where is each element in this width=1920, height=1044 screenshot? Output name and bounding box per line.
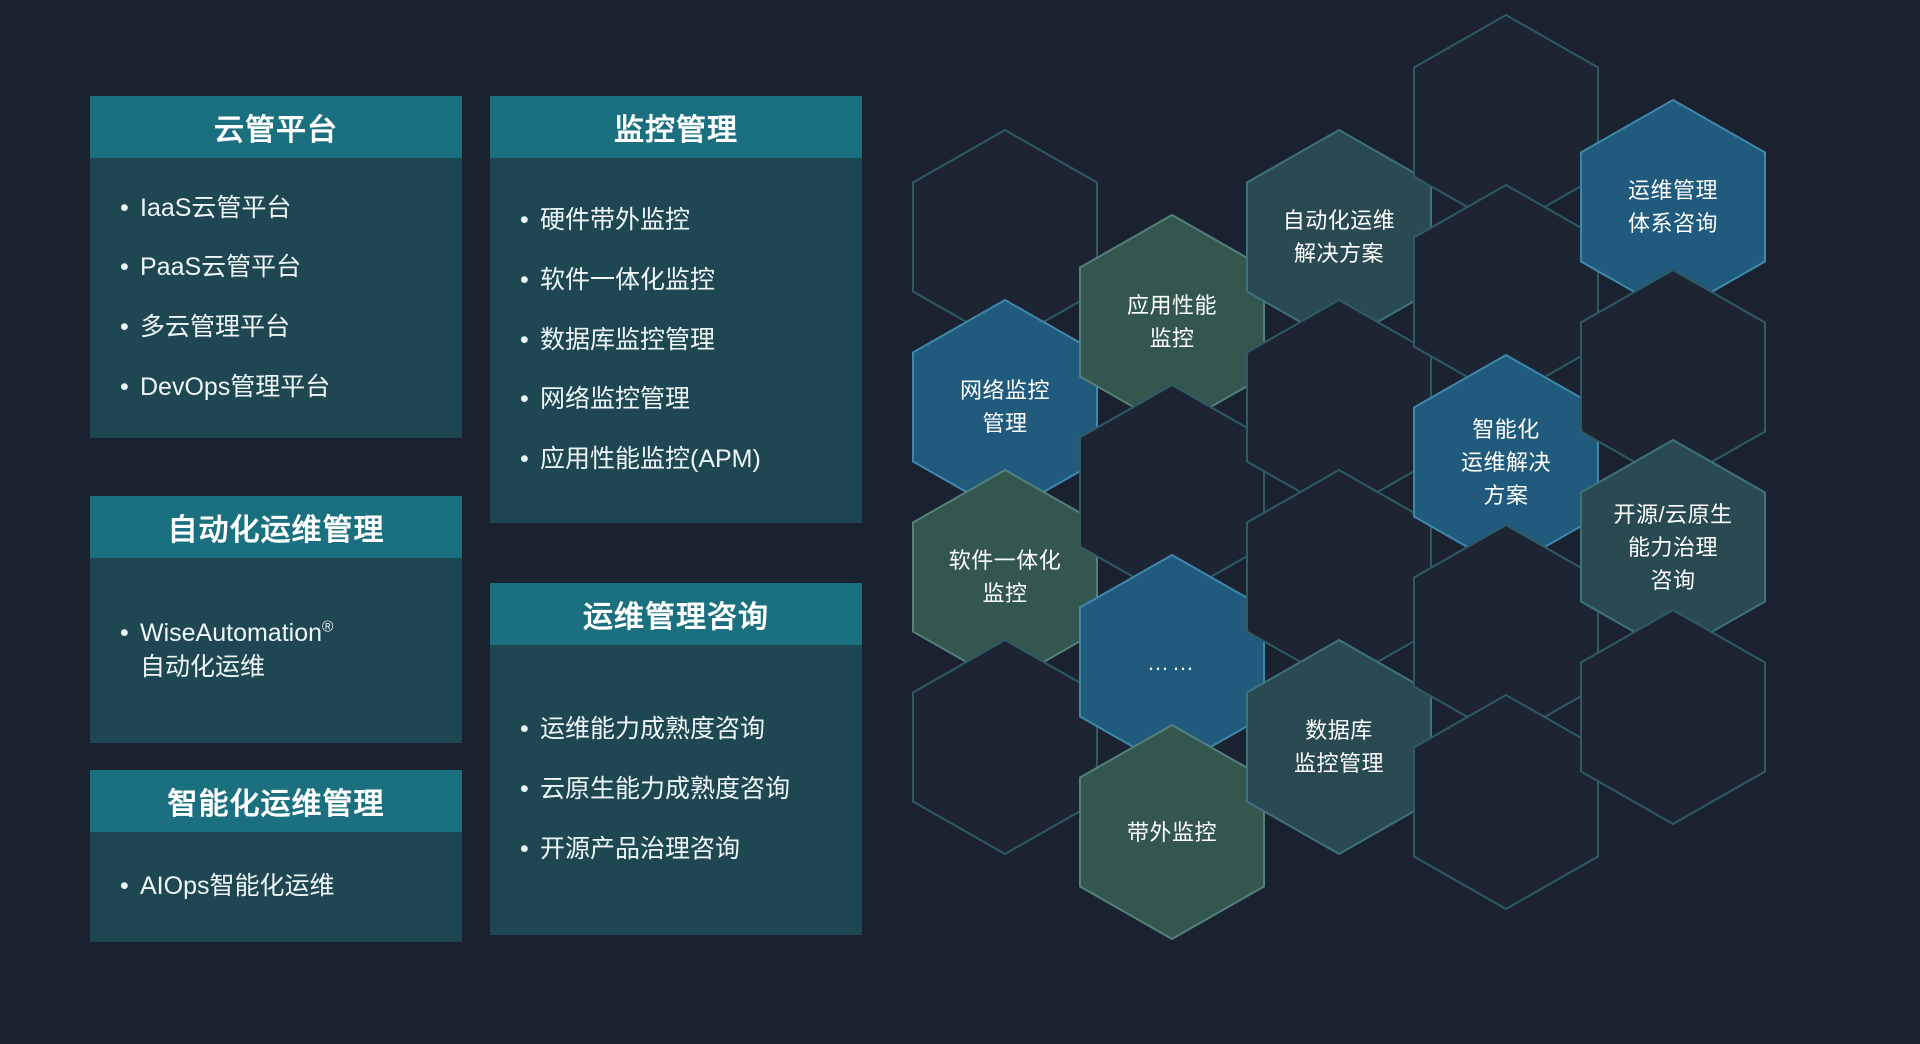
list-item-label: 开源产品治理咨询 (540, 833, 836, 867)
list-item[interactable]: •开源产品治理咨询 (520, 833, 836, 867)
bullet-icon: • (520, 833, 538, 867)
list-item-label-second-line: 自动化运维 (140, 653, 265, 681)
hexagon-shape-icon (1578, 608, 1768, 826)
list-item[interactable]: •应用性能监控(APM) (520, 443, 836, 477)
hexagon-node-empty (1578, 608, 1768, 826)
bullet-icon: • (120, 371, 138, 405)
service-card: 监控管理•硬件带外监控•软件一体化监控•数据库监控管理•网络监控管理•应用性能监… (490, 96, 862, 523)
bullet-icon: • (520, 264, 538, 298)
list-item-label: 多云管理平台 (140, 311, 436, 345)
bullet-icon: • (520, 383, 538, 417)
hexagon-label: …… (1131, 646, 1213, 679)
hexagon-label: 网络监控 管理 (944, 374, 1066, 440)
hexagon-label: 应用性能 监控 (1111, 289, 1233, 355)
list-item-label: 网络监控管理 (540, 383, 836, 417)
list-item-label: 运维能力成熟度咨询 (540, 713, 836, 747)
service-card: 自动化运维管理•WiseAutomation®自动化运维 (90, 496, 462, 743)
bullet-icon: • (520, 204, 538, 238)
hexagon-label: 智能化 运维解决 方案 (1445, 413, 1567, 512)
hexagon-label: 开源/云原生 能力治理 咨询 (1597, 498, 1748, 597)
list-item[interactable]: •网络监控管理 (520, 383, 836, 417)
list-item-label: 云原生能力成熟度咨询 (540, 773, 836, 807)
card-item-list: •WiseAutomation®自动化运维 (90, 558, 462, 743)
list-item-label: AIOps智能化运维 (140, 870, 436, 904)
service-card: 云管平台•IaaS云管平台•PaaS云管平台•多云管理平台•DevOps管理平台 (90, 96, 462, 438)
card-title: 自动化运维管理 (90, 496, 462, 558)
hexagon-grid: 网络监控 管理软件一体化 监控应用性能 监控……带外监控自动化运维 解决方案数据… (940, 0, 1920, 1044)
list-item-label: 硬件带外监控 (540, 204, 836, 238)
card-title: 智能化运维管理 (90, 770, 462, 832)
hexagon-shape-icon (910, 638, 1100, 856)
card-title: 监控管理 (490, 96, 862, 158)
bullet-icon: • (120, 311, 138, 345)
hexagon-label: 带外监控 (1111, 816, 1233, 849)
hexagon-shape-icon (1411, 693, 1601, 911)
list-item[interactable]: •软件一体化监控 (520, 264, 836, 298)
service-card: 智能化运维管理•AIOps智能化运维 (90, 770, 462, 942)
card-item-list: •硬件带外监控•软件一体化监控•数据库监控管理•网络监控管理•应用性能监控(AP… (490, 158, 862, 523)
card-title: 云管平台 (90, 96, 462, 158)
list-item[interactable]: •WiseAutomation®自动化运维 (120, 617, 436, 685)
list-item-label: DevOps管理平台 (140, 371, 436, 405)
hexagon-node-empty (1411, 693, 1601, 911)
list-item[interactable]: •云原生能力成熟度咨询 (520, 773, 836, 807)
list-item-label: IaaS云管平台 (140, 192, 436, 226)
card-title: 运维管理咨询 (490, 583, 862, 645)
bullet-icon: • (120, 870, 138, 904)
hexagon-node[interactable]: 数据库 监控管理 (1244, 638, 1434, 856)
list-item-label: 应用性能监控(APM) (540, 443, 836, 477)
list-item[interactable]: •硬件带外监控 (520, 204, 836, 238)
hexagon-label: 软件一体化 监控 (933, 544, 1078, 610)
hexagon-label: 自动化运维 解决方案 (1267, 204, 1412, 270)
bullet-icon: • (120, 192, 138, 226)
card-item-list: •IaaS云管平台•PaaS云管平台•多云管理平台•DevOps管理平台 (90, 158, 462, 438)
services-card-panel: 云管平台•IaaS云管平台•PaaS云管平台•多云管理平台•DevOps管理平台… (0, 0, 900, 1044)
bullet-icon: • (520, 773, 538, 807)
bullet-icon: • (120, 251, 138, 285)
list-item[interactable]: •DevOps管理平台 (120, 371, 436, 405)
card-item-list: •运维能力成熟度咨询•云原生能力成熟度咨询•开源产品治理咨询 (490, 645, 862, 935)
list-item-label: PaaS云管平台 (140, 251, 436, 285)
list-item[interactable]: •数据库监控管理 (520, 324, 836, 358)
bullet-icon: • (520, 443, 538, 477)
list-item[interactable]: •AIOps智能化运维 (120, 870, 436, 904)
hexagon-node-empty (910, 638, 1100, 856)
list-item-label-main: WiseAutomation (140, 619, 322, 647)
hexagon-label: 运维管理 体系咨询 (1612, 174, 1734, 240)
list-item-label: WiseAutomation®自动化运维 (140, 617, 436, 685)
list-item[interactable]: •IaaS云管平台 (120, 192, 436, 226)
list-item[interactable]: •运维能力成熟度咨询 (520, 713, 836, 747)
registered-trademark-icon: ® (322, 618, 333, 635)
list-item[interactable]: •多云管理平台 (120, 311, 436, 345)
card-item-list: •AIOps智能化运维 (90, 832, 462, 942)
list-item-label: 数据库监控管理 (540, 324, 836, 358)
hexagon-label: 数据库 监控管理 (1278, 714, 1400, 780)
service-card: 运维管理咨询•运维能力成熟度咨询•云原生能力成熟度咨询•开源产品治理咨询 (490, 583, 862, 935)
list-item-label: 软件一体化监控 (540, 264, 836, 298)
hexagon-node[interactable]: 带外监控 (1077, 723, 1267, 941)
bullet-icon: • (120, 617, 138, 651)
bullet-icon: • (520, 324, 538, 358)
list-item[interactable]: •PaaS云管平台 (120, 251, 436, 285)
bullet-icon: • (520, 713, 538, 747)
